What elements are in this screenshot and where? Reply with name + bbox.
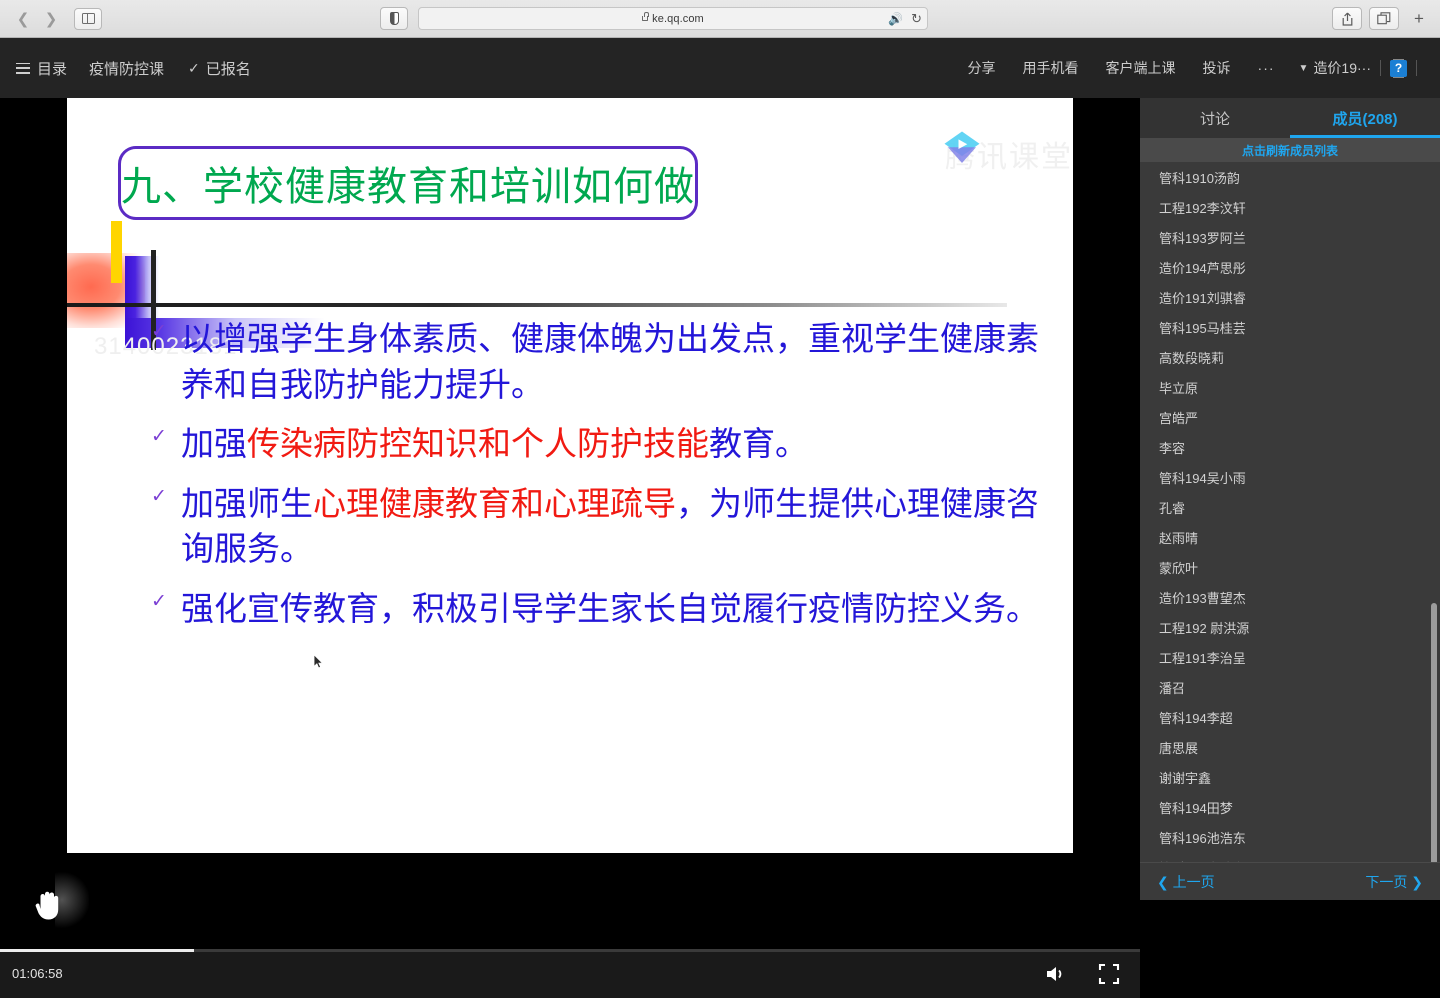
member-row[interactable]: 管科194田梦 — [1140, 792, 1440, 822]
plain-phrase: 强化宣传教育，积极引导学生家长自觉履行疫情防控义务。 — [181, 589, 1039, 628]
sidebar-tabs: 讨论 成员(208) — [1140, 98, 1440, 138]
tencent-classroom-logo — [941, 128, 983, 170]
member-row[interactable]: 蒙欣叶 — [1140, 552, 1440, 582]
slide-canvas: 3140023181 腾讯课堂 九、学校健康教育和培训如何做 ✓以增强学生身体素… — [67, 98, 1073, 853]
member-row[interactable]: 工程192 尉洪源 — [1140, 612, 1440, 642]
member-row[interactable]: 管科197窦浩东 — [1140, 852, 1440, 862]
fullscreen-icon[interactable] — [1098, 963, 1120, 985]
slide-bullet: ✓以增强学生身体素质、健康体魄为出发点，重视学生健康素养和自我防护能力提升。 — [151, 316, 1051, 407]
chevron-down-icon[interactable]: ▼ — [1299, 63, 1309, 74]
sidebar-pagination: ❮ 上一页 下一页 ❯ — [1140, 862, 1440, 900]
watch-on-mobile-button[interactable]: 用手机看 — [1023, 58, 1079, 78]
progress-fill — [0, 949, 194, 952]
member-row[interactable]: 孔睿 — [1140, 492, 1440, 522]
sidebar-scrollbar-thumb[interactable] — [1431, 603, 1437, 868]
plain-phrase: 加强 — [181, 424, 247, 463]
header-divider-2 — [1416, 60, 1417, 76]
member-row[interactable]: 管科196池浩东 — [1140, 822, 1440, 852]
slide-bullet: ✓加强传染病防控知识和个人防护技能教育。 — [151, 421, 1051, 467]
decor-yellow-bar — [111, 221, 122, 283]
address-bar-group: ke.qq.com 🔊 ↻ — [380, 7, 928, 30]
member-row[interactable]: 唐思展 — [1140, 732, 1440, 762]
member-row[interactable]: 造价193曹望杰 — [1140, 582, 1440, 612]
member-row[interactable]: 管科193罗阿兰 — [1140, 222, 1440, 252]
browser-nav-group: ❮ ❯ — [10, 8, 102, 30]
slide-bullet-text: 加强传染病防控知识和个人防护技能教育。 — [181, 421, 808, 467]
check-icon: ✓ — [151, 421, 181, 449]
slide-title: 九、学校健康教育和培训如何做 — [121, 154, 695, 212]
share-button[interactable]: 分享 — [968, 58, 996, 78]
playback-time: 01:06:58 — [12, 966, 63, 981]
back-icon[interactable]: ❮ — [10, 8, 36, 30]
prev-page-button[interactable]: ❮ 上一页 — [1157, 872, 1215, 892]
progress-track[interactable] — [0, 949, 1140, 952]
mouse-cursor — [313, 654, 324, 670]
check-icon: ✓ — [151, 316, 181, 344]
more-options-button[interactable]: ··· — [1258, 60, 1275, 76]
sidebar-icon — [82, 13, 95, 24]
header-left-group: 目录 疫情防控课 ✓ 已报名 — [16, 58, 275, 79]
member-row[interactable]: 赵雨晴 — [1140, 522, 1440, 552]
browser-toolbar: ❮ ❯ ke.qq.com 🔊 ↻ — [0, 0, 1440, 38]
reader-shield-button[interactable] — [380, 7, 408, 30]
member-row[interactable]: 李容 — [1140, 432, 1440, 462]
address-bar-actions: 🔊 ↻ — [888, 11, 922, 27]
check-icon: ✓ — [188, 60, 200, 77]
member-row[interactable]: 潘召 — [1140, 672, 1440, 702]
slide-bullet: ✓加强师生心理健康教育和心理疏导，为师生提供心理健康咨询服务。 — [151, 481, 1051, 572]
video-stage[interactable]: 3140023181 腾讯课堂 九、学校健康教育和培训如何做 ✓以增强学生身体素… — [0, 98, 1140, 900]
slide-title-box: 九、学校健康教育和培训如何做 — [118, 146, 698, 220]
slide-bullet-text: 以增强学生身体素质、健康体魄为出发点，重视学生健康素养和自我防护能力提升。 — [181, 316, 1051, 407]
header-divider — [1380, 60, 1381, 76]
member-row[interactable]: 管科1910汤韵 — [1140, 162, 1440, 192]
decor-horizontal-rule — [67, 303, 1007, 307]
member-row[interactable]: 宫皓严 — [1140, 402, 1440, 432]
share-icon — [1342, 12, 1353, 26]
new-tab-button[interactable]: + — [1406, 7, 1432, 30]
member-row[interactable]: 管科195马桂芸 — [1140, 312, 1440, 342]
course-title: 疫情防控课 — [89, 58, 164, 79]
tab-discussion[interactable]: 讨论 — [1140, 98, 1290, 138]
catalog-button[interactable]: 目录 — [37, 58, 67, 79]
member-row[interactable]: 高数段晓莉 — [1140, 342, 1440, 372]
help-icon[interactable]: ? — [1390, 60, 1407, 77]
member-row[interactable]: 谢谢宇鑫 — [1140, 762, 1440, 792]
member-row[interactable]: 造价194芦思彤 — [1140, 252, 1440, 282]
browser-right-actions: + — [1332, 7, 1432, 30]
reload-icon[interactable]: ↻ — [911, 11, 922, 27]
client-class-button[interactable]: 客户端上课 — [1106, 58, 1176, 78]
next-page-button[interactable]: 下一页 ❯ — [1365, 872, 1423, 892]
next-page-label: 下一页 — [1365, 874, 1407, 890]
player-right-controls — [1044, 963, 1120, 985]
tab-overview-button[interactable] — [1369, 7, 1399, 30]
right-sidebar: 讨论 成员(208) 点击刷新成员列表 管科1910汤韵工程192李汶轩管科19… — [1140, 98, 1440, 900]
address-bar[interactable]: ke.qq.com 🔊 ↻ — [418, 7, 928, 30]
member-row[interactable]: 管科194李超 — [1140, 702, 1440, 732]
url-text: ke.qq.com — [652, 13, 704, 25]
complaint-button[interactable]: 投诉 — [1203, 58, 1231, 78]
volume-icon[interactable] — [1044, 964, 1068, 984]
plain-phrase: 教育。 — [709, 424, 808, 463]
site-header: 目录 疫情防控课 ✓ 已报名 分享 用手机看 客户端上课 投诉 ··· ▼ 造价… — [0, 38, 1440, 98]
slide-bullet-text: 加强师生心理健康教育和心理疏导，为师生提供心理健康咨询服务。 — [181, 481, 1051, 572]
plain-phrase: 以增强学生身体素质、健康体魄为出发点，重视学生健康素养和自我防护能力提升。 — [181, 319, 1039, 404]
member-row[interactable]: 造价191刘骐睿 — [1140, 282, 1440, 312]
plain-phrase: 加强师生 — [181, 484, 313, 523]
hamburger-icon[interactable] — [16, 63, 30, 74]
slide-bullet-list: ✓以增强学生身体素质、健康体魄为出发点，重视学生健康素养和自我防护能力提升。✓加… — [151, 316, 1051, 645]
tab-members[interactable]: 成员(208) — [1290, 98, 1440, 138]
lock-icon — [642, 16, 648, 21]
highlighted-phrase: 传染病防控知识和个人防护技能 — [247, 424, 709, 463]
forward-icon[interactable]: ❯ — [38, 8, 64, 30]
sidebar-toggle-button[interactable] — [74, 8, 102, 30]
user-account-label[interactable]: 造价19··· — [1313, 58, 1371, 78]
reader-shield-icon — [390, 12, 399, 25]
player-controls-bar: 01:06:58 — [0, 949, 1140, 998]
speaker-icon[interactable]: 🔊 — [888, 12, 903, 26]
check-icon: ✓ — [151, 481, 181, 509]
hand-pan-icon[interactable] — [30, 883, 66, 923]
member-row[interactable]: 管科194吴小雨 — [1140, 462, 1440, 492]
header-right-group: 分享 用手机看 客户端上课 投诉 ··· ▼ 造价19··· ? — [941, 58, 1426, 78]
check-icon: ✓ — [151, 586, 181, 614]
enrolled-status: 已报名 — [206, 58, 251, 79]
slide-bullet: ✓强化宣传教育，积极引导学生家长自觉履行疫情防控义务。 — [151, 586, 1051, 632]
prev-page-label: 上一页 — [1173, 874, 1215, 890]
refresh-member-list-button[interactable]: 点击刷新成员列表 — [1140, 138, 1440, 162]
slide-bullet-text: 强化宣传教育，积极引导学生家长自觉履行疫情防控义务。 — [181, 586, 1039, 632]
member-row[interactable]: 工程192李汶轩 — [1140, 192, 1440, 222]
highlighted-phrase: 心理健康教育和心理疏导 — [313, 484, 676, 523]
member-row[interactable]: 工程191李治呈 — [1140, 642, 1440, 672]
member-row[interactable]: 毕立原 — [1140, 372, 1440, 402]
member-list[interactable]: 管科1910汤韵工程192李汶轩管科193罗阿兰造价194芦思彤造价191刘骐睿… — [1140, 162, 1440, 862]
share-button[interactable] — [1332, 7, 1362, 30]
tab-overview-icon — [1377, 12, 1391, 25]
